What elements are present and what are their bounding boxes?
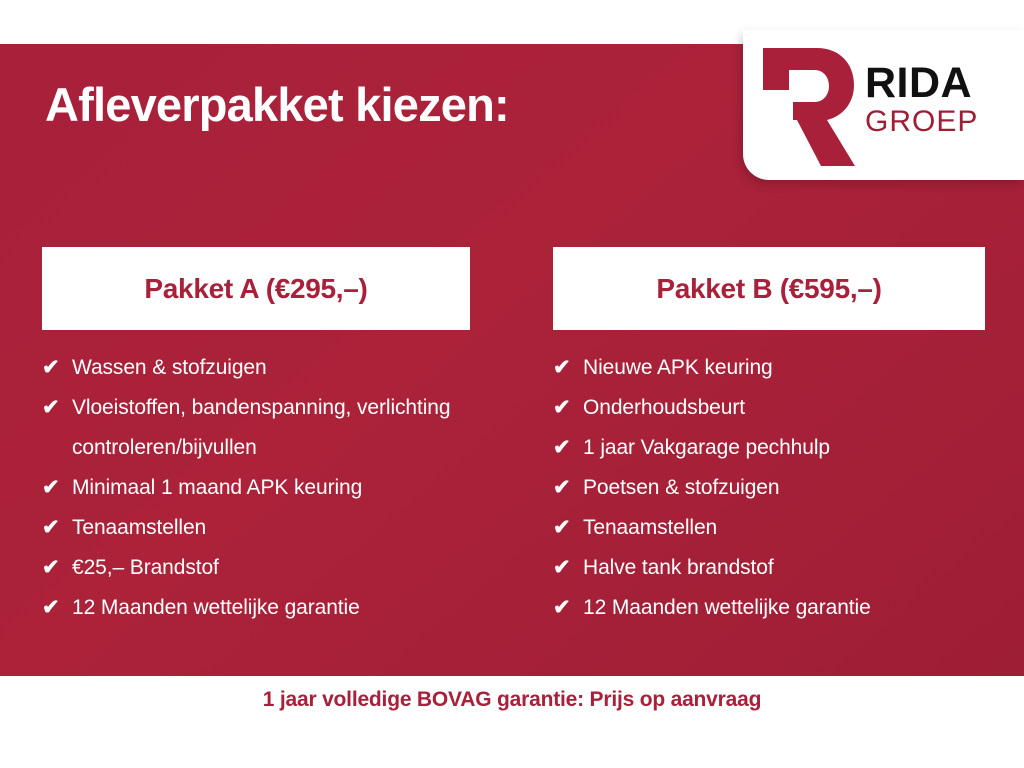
brand-logo-plate: RIDA GROEP bbox=[743, 30, 1024, 180]
check-icon: ✔ bbox=[553, 428, 583, 468]
list-item: ✔ Vloeistoffen, bandenspanning, verlicht… bbox=[42, 388, 470, 468]
feature-label: Tenaamstellen bbox=[72, 508, 470, 548]
feature-label: Tenaamstellen bbox=[583, 508, 985, 548]
footer-note: 1 jaar volledige BOVAG garantie: Prijs o… bbox=[0, 688, 1024, 712]
package-a-header: Pakket A (€295,–) bbox=[42, 247, 470, 330]
list-item: ✔ Poetsen & stofzuigen bbox=[553, 468, 985, 508]
slide-canvas: Afleverpakket kiezen: RIDA GROEP Pakket … bbox=[0, 0, 1024, 768]
package-a-feature-list: ✔ Wassen & stofzuigen ✔ Vloeistoffen, ba… bbox=[42, 348, 470, 628]
list-item: ✔ Halve tank brandstof bbox=[553, 548, 985, 588]
brand-logo-wordmark: RIDA GROEP bbox=[865, 63, 1015, 137]
check-icon: ✔ bbox=[42, 388, 72, 428]
check-icon: ✔ bbox=[553, 588, 583, 628]
feature-label: Minimaal 1 maand APK keuring bbox=[72, 468, 470, 508]
package-b-feature-list: ✔ Nieuwe APK keuring ✔ Onderhoudsbeurt ✔… bbox=[553, 348, 985, 628]
check-icon: ✔ bbox=[42, 508, 72, 548]
check-icon: ✔ bbox=[42, 548, 72, 588]
check-icon: ✔ bbox=[42, 468, 72, 508]
feature-label: Wassen & stofzuigen bbox=[72, 348, 470, 388]
check-icon: ✔ bbox=[553, 548, 583, 588]
feature-label: Poetsen & stofzuigen bbox=[583, 468, 985, 508]
package-column-b: Pakket B (€595,–) ✔ Nieuwe APK keuring ✔… bbox=[553, 247, 985, 628]
package-column-a: Pakket A (€295,–) ✔ Wassen & stofzuigen … bbox=[42, 247, 470, 628]
package-a-title: Pakket A (€295,–) bbox=[144, 273, 367, 305]
list-item: ✔ Nieuwe APK keuring bbox=[553, 348, 985, 388]
check-icon: ✔ bbox=[42, 588, 72, 628]
feature-label: 12 Maanden wettelijke garantie bbox=[72, 588, 470, 628]
feature-label: Nieuwe APK keuring bbox=[583, 348, 985, 388]
list-item: ✔ 12 Maanden wettelijke garantie bbox=[42, 588, 470, 628]
brand-name-secondary: GROEP bbox=[865, 106, 1015, 138]
list-item: ✔ Tenaamstellen bbox=[553, 508, 985, 548]
list-item: ✔ 12 Maanden wettelijke garantie bbox=[553, 588, 985, 628]
package-b-header: Pakket B (€595,–) bbox=[553, 247, 985, 330]
feature-label: 12 Maanden wettelijke garantie bbox=[583, 588, 985, 628]
check-icon: ✔ bbox=[42, 348, 72, 388]
list-item: ✔ €25,– Brandstof bbox=[42, 548, 470, 588]
list-item: ✔ Tenaamstellen bbox=[42, 508, 470, 548]
check-icon: ✔ bbox=[553, 508, 583, 548]
feature-label: Halve tank brandstof bbox=[583, 548, 985, 588]
brand-name-primary: RIDA bbox=[865, 63, 1015, 104]
feature-label: €25,– Brandstof bbox=[72, 548, 470, 588]
rida-r-mark-icon bbox=[759, 46, 857, 168]
page-title: Afleverpakket kiezen: bbox=[45, 78, 509, 132]
list-item: ✔ Minimaal 1 maand APK keuring bbox=[42, 468, 470, 508]
check-icon: ✔ bbox=[553, 388, 583, 428]
list-item: ✔ Onderhoudsbeurt bbox=[553, 388, 985, 428]
feature-label: Vloeistoffen, bandenspanning, verlichtin… bbox=[72, 388, 470, 468]
feature-label: 1 jaar Vakgarage pechhulp bbox=[583, 428, 985, 468]
list-item: ✔ 1 jaar Vakgarage pechhulp bbox=[553, 428, 985, 468]
check-icon: ✔ bbox=[553, 348, 583, 388]
package-b-title: Pakket B (€595,–) bbox=[656, 273, 881, 305]
feature-label: Onderhoudsbeurt bbox=[583, 388, 985, 428]
list-item: ✔ Wassen & stofzuigen bbox=[42, 348, 470, 388]
check-icon: ✔ bbox=[553, 468, 583, 508]
